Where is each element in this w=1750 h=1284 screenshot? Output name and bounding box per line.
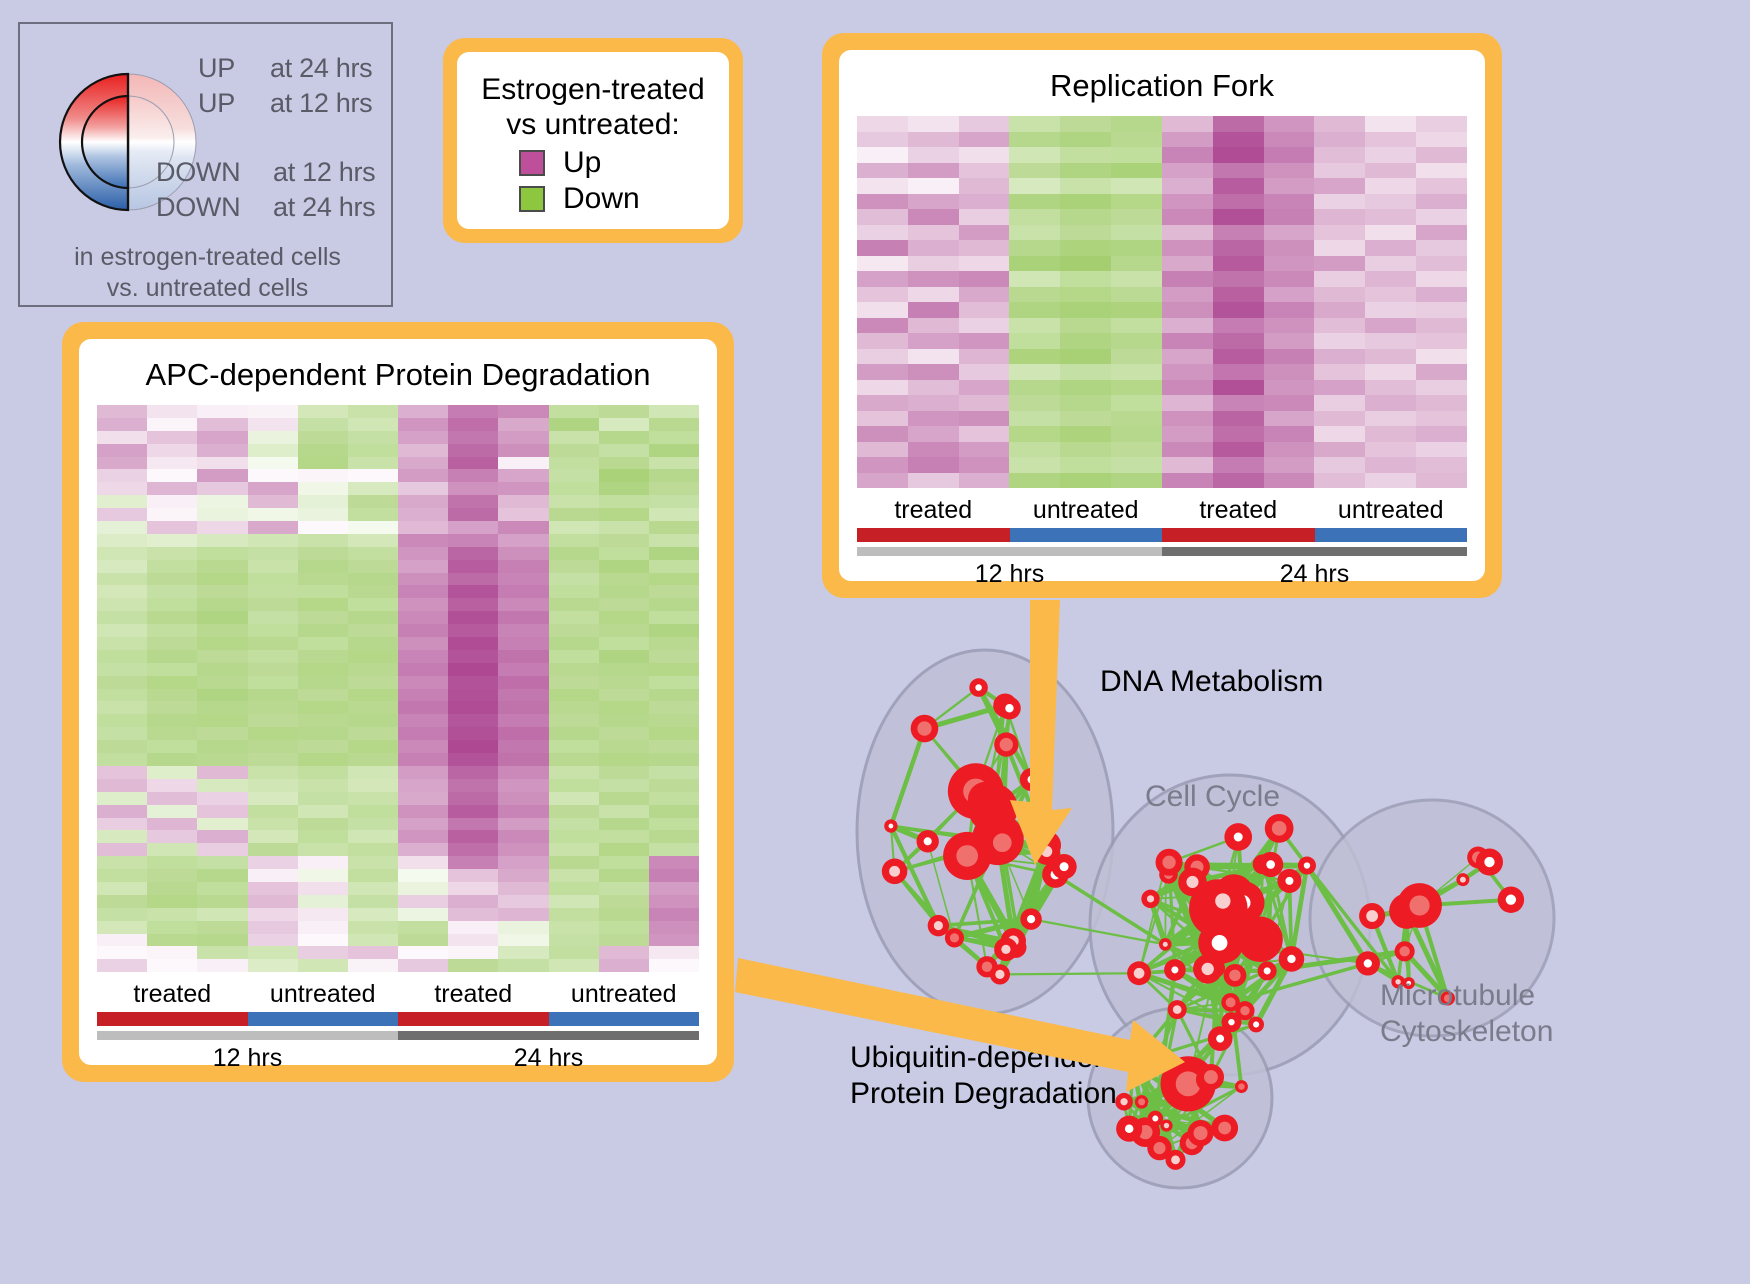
heatmap-cell <box>1365 318 1416 334</box>
heatmap-cell <box>1314 457 1365 473</box>
heatmap-cell <box>1060 302 1111 318</box>
heatmap-cell <box>857 473 908 489</box>
heatmap-cell <box>1213 209 1264 225</box>
heatmap-cell <box>1314 256 1365 272</box>
heatmap-cell <box>857 442 908 458</box>
heatmap-cell <box>147 805 197 818</box>
heatmap-cell <box>248 689 298 702</box>
heatmap-cell <box>147 946 197 959</box>
heatmap-cell <box>1264 302 1315 318</box>
apc-degradation-panel: APC-dependent Protein Degradation treate… <box>62 322 734 1082</box>
heatmap-cell <box>448 843 498 856</box>
heatmap-cell <box>908 426 959 442</box>
network-node[interactable] <box>1116 1116 1142 1142</box>
heatmap-cell <box>549 482 599 495</box>
heatmap-cell <box>448 946 498 959</box>
heatmap-cell <box>298 469 348 482</box>
heatmap-cell <box>1009 302 1060 318</box>
heatmap-cell <box>908 240 959 256</box>
heatmap-cell <box>348 611 398 624</box>
heatmap-cell <box>97 869 147 882</box>
heatmap-cell <box>1009 163 1060 179</box>
group-label: treated <box>1162 496 1315 525</box>
heatmap-cell <box>549 560 599 573</box>
network-node[interactable] <box>884 819 897 832</box>
heatmap-cell <box>398 495 448 508</box>
heatmap-cell <box>448 856 498 869</box>
heatmap-cell <box>298 650 348 663</box>
network-node[interactable] <box>1359 903 1385 929</box>
heatmap-cell <box>1162 302 1213 318</box>
heatmap-cell <box>248 714 298 727</box>
heatmap-cell <box>498 818 548 831</box>
heatmap-cell <box>1162 426 1213 442</box>
heatmap-cell <box>248 457 298 470</box>
heatmap-cell <box>398 444 448 457</box>
heatmap-cell <box>248 830 298 843</box>
heatmap-cell <box>348 521 398 534</box>
heatmap-cell <box>498 598 548 611</box>
network-node[interactable] <box>1124 1054 1141 1071</box>
heatmap-cell <box>649 843 699 856</box>
heatmap-cell <box>97 624 147 637</box>
heatmap-cell <box>498 508 548 521</box>
heatmap-cell <box>649 792 699 805</box>
group-color-bar-segment <box>398 1012 549 1026</box>
network-node[interactable] <box>1187 1120 1213 1146</box>
heatmap-cell <box>599 753 649 766</box>
heatmap-cell <box>448 418 498 431</box>
network-node[interactable] <box>969 678 988 697</box>
heatmap-cell <box>908 194 959 210</box>
network-node[interactable] <box>990 964 1010 984</box>
heatmap-cell <box>248 818 298 831</box>
heatmap-cell <box>1162 442 1213 458</box>
network-node[interactable] <box>916 830 938 852</box>
network-node[interactable] <box>1298 857 1316 875</box>
heatmap-cell <box>1416 163 1467 179</box>
heatmap-cell <box>1365 380 1416 396</box>
heatmap-cell <box>549 830 599 843</box>
network-node[interactable] <box>1224 823 1252 851</box>
network-node[interactable] <box>1248 1017 1264 1033</box>
heatmap-cell <box>1365 209 1416 225</box>
heatmap-cell <box>1162 380 1213 396</box>
heatmap-cell <box>1060 380 1111 396</box>
heatmap-cell <box>197 805 247 818</box>
heatmap-cell <box>649 753 699 766</box>
heatmap-cell <box>1162 395 1213 411</box>
heatmap-cell <box>857 178 908 194</box>
heatmap-cell <box>498 573 548 586</box>
network-node[interactable] <box>1198 1064 1224 1090</box>
heatmap-cell <box>197 521 247 534</box>
heatmap-cell <box>298 727 348 740</box>
heatmap-cell <box>448 830 498 843</box>
heatmap-cell <box>1009 256 1060 272</box>
heatmap-cell <box>298 573 348 586</box>
heatmap-cell <box>1314 349 1365 365</box>
network-node[interactable] <box>1224 964 1247 987</box>
heatmap-cell <box>1416 395 1467 411</box>
heatmap-cell <box>448 701 498 714</box>
heatmap-cell <box>448 534 498 547</box>
heatmap-cell <box>1213 426 1264 442</box>
heatmap-cell <box>248 482 298 495</box>
heatmap-cell <box>147 689 197 702</box>
heatmap-cell <box>599 573 649 586</box>
heatmap-cell <box>398 934 448 947</box>
network-node[interactable] <box>943 832 991 880</box>
heatmap-cell <box>248 469 298 482</box>
heatmap-cell <box>599 431 649 444</box>
heatmap-cell <box>448 560 498 573</box>
heatmap-cell <box>97 637 147 650</box>
network-node[interactable] <box>1135 1095 1149 1109</box>
heatmap-cell <box>97 908 147 921</box>
network-node[interactable] <box>1498 887 1524 913</box>
apc-group-labels: treateduntreatedtreateduntreated <box>97 980 699 1009</box>
heatmap-cell <box>448 521 498 534</box>
network-node[interactable] <box>1279 946 1305 972</box>
network-node[interactable] <box>994 938 1018 962</box>
heatmap-cell <box>1213 457 1264 473</box>
heatmap-cell <box>1111 318 1162 334</box>
heatmap-cell <box>498 805 548 818</box>
heatmap-cell <box>908 225 959 241</box>
heatmap-cell <box>1060 240 1111 256</box>
network-node[interactable] <box>1020 768 1043 791</box>
heatmap-cell <box>498 714 548 727</box>
heatmap-cell <box>1162 240 1213 256</box>
heatmap-cell <box>147 959 197 972</box>
heatmap-cell <box>599 921 649 934</box>
time-color-bar-segment <box>97 1031 398 1040</box>
heatmap-cell <box>959 116 1010 132</box>
heatmap-cell <box>959 256 1010 272</box>
heatmap-cell <box>298 740 348 753</box>
heatmap-cell <box>549 495 599 508</box>
heatmap-cell <box>1314 132 1365 148</box>
heatmap-cell <box>857 349 908 365</box>
heatmap-cell <box>549 508 599 521</box>
network-node[interactable] <box>1141 890 1159 908</box>
network-node[interactable] <box>945 928 964 947</box>
wheel-ring-label-up-12: UP <box>198 88 235 119</box>
heatmap-cell <box>1060 287 1111 303</box>
heatmap-cell <box>97 792 147 805</box>
heatmap-cell <box>1365 364 1416 380</box>
network-node[interactable] <box>1051 854 1076 879</box>
heatmap-cell <box>549 405 599 418</box>
network-node[interactable] <box>928 915 949 936</box>
heatmap-cell <box>298 560 348 573</box>
network-node[interactable] <box>994 732 1018 756</box>
heatmap-cell <box>1416 132 1467 148</box>
heatmap-cell <box>549 624 599 637</box>
heatmap-cell <box>248 598 298 611</box>
heatmap-cell <box>1416 473 1467 489</box>
heatmap-cell <box>197 650 247 663</box>
heatmap-cell <box>248 727 298 740</box>
network-node[interactable] <box>1127 961 1151 985</box>
heatmap-cell <box>908 163 959 179</box>
heatmap-cell <box>549 573 599 586</box>
heatmap-cell <box>1416 302 1467 318</box>
heatmap-cell <box>248 843 298 856</box>
heatmap-cell <box>1111 147 1162 163</box>
network-node[interactable] <box>1456 873 1469 886</box>
heatmap-cell <box>649 895 699 908</box>
heatmap-cell <box>1264 442 1315 458</box>
network-node[interactable] <box>1178 868 1207 897</box>
heatmap-cell <box>248 573 298 586</box>
heatmap-cell <box>1162 132 1213 148</box>
heatmap-cell <box>298 534 348 547</box>
heatmap-cell <box>248 418 298 431</box>
heatmap-cell <box>1009 132 1060 148</box>
heatmap-cell <box>197 663 247 676</box>
heatmap-cell <box>197 637 247 650</box>
network-node[interactable] <box>1277 869 1301 893</box>
heatmap-cell <box>1213 132 1264 148</box>
heatmap-cell <box>1416 380 1467 396</box>
heatmap-cell <box>1009 209 1060 225</box>
heatmap-cell <box>97 469 147 482</box>
heatmap-cell <box>1060 147 1111 163</box>
heatmap-cell <box>448 766 498 779</box>
heatmap-cell <box>549 753 599 766</box>
heatmap-cell <box>1365 395 1416 411</box>
heatmap-cell <box>1365 256 1416 272</box>
heatmap-cell <box>959 287 1010 303</box>
heatmap-cell <box>1365 194 1416 210</box>
heatmap-cell <box>599 895 649 908</box>
heatmap-cell <box>1162 256 1213 272</box>
heatmap-cell <box>549 959 599 972</box>
heatmap-cell <box>147 714 197 727</box>
heatmap-cell <box>498 482 548 495</box>
heatmap-cell <box>197 779 247 792</box>
heatmap-cell <box>857 225 908 241</box>
group-label: treated <box>398 980 549 1009</box>
heatmap-cell <box>857 256 908 272</box>
heatmap-cell <box>857 271 908 287</box>
heatmap-cell <box>1213 380 1264 396</box>
network-node[interactable] <box>1020 908 1041 929</box>
heatmap-cell <box>448 547 498 560</box>
heatmap-cell <box>959 364 1010 380</box>
heatmap-cell <box>649 637 699 650</box>
heatmap-cell <box>857 333 908 349</box>
heatmap-cell <box>1213 116 1264 132</box>
heatmap-cell <box>1060 426 1111 442</box>
network-node[interactable] <box>1147 1136 1171 1160</box>
heatmap-cell <box>1111 271 1162 287</box>
wheel-ring-time-down-12: at 12 hrs <box>273 157 375 188</box>
heatmap-cell <box>298 444 348 457</box>
heatmap-cell <box>197 689 247 702</box>
heatmap-cell <box>1213 271 1264 287</box>
heatmap-cell <box>959 132 1010 148</box>
heatmap-cell <box>348 637 398 650</box>
heatmap-cell <box>348 843 398 856</box>
network-node[interactable] <box>882 859 908 885</box>
heatmap-cell <box>599 882 649 895</box>
heatmap-cell <box>498 663 548 676</box>
network-node[interactable] <box>968 783 1018 833</box>
heatmap-cell <box>549 689 599 702</box>
heatmap-cell <box>398 701 448 714</box>
heatmap-cell <box>908 287 959 303</box>
heatmap-cell <box>348 573 398 586</box>
heatmap-cell <box>97 650 147 663</box>
heatmap-cell <box>398 843 448 856</box>
heatmap-cell <box>197 547 247 560</box>
heatmap-cell <box>1009 194 1060 210</box>
wheel-ring-time-up-24: at 24 hrs <box>270 53 372 84</box>
network-node[interactable] <box>911 715 939 743</box>
network-node[interactable] <box>1205 883 1241 919</box>
heatmap-cell <box>857 426 908 442</box>
heatmap-cell <box>1009 380 1060 396</box>
heatmap-cell <box>298 779 348 792</box>
network-node[interactable] <box>1235 1080 1248 1093</box>
heatmap-cell <box>248 856 298 869</box>
heatmap-cell <box>97 766 147 779</box>
heatmap-cell <box>97 701 147 714</box>
heatmap-cell <box>1264 163 1315 179</box>
heatmap-cell <box>1365 457 1416 473</box>
heatmap-cell <box>398 405 448 418</box>
network-node[interactable] <box>1156 849 1183 876</box>
heatmap-cell <box>398 547 448 560</box>
ubiquitin-label-line1: Ubiquitin-dependent <box>850 1040 1119 1076</box>
heatmap-cell <box>1060 395 1111 411</box>
apc-degradation-heatmap <box>97 405 699 972</box>
network-node[interactable] <box>1237 917 1282 962</box>
up-legend-label: Up <box>563 148 601 178</box>
heatmap-cell <box>1416 349 1467 365</box>
heatmap-cell <box>599 856 649 869</box>
network-node[interactable] <box>1193 954 1222 983</box>
heatmap-cell <box>908 116 959 132</box>
heatmap-cell <box>1213 395 1264 411</box>
group-color-bar-segment <box>1162 528 1315 542</box>
heatmap-cell <box>97 959 147 972</box>
heatmap-cell <box>1009 147 1060 163</box>
heatmap-cell <box>599 792 649 805</box>
heatmap-cell <box>599 521 649 534</box>
heatmap-cell <box>1213 302 1264 318</box>
heatmap-cell <box>959 302 1010 318</box>
heatmap-cell <box>599 946 649 959</box>
heatmap-cell <box>248 779 298 792</box>
network-node[interactable] <box>1258 852 1283 877</box>
network-node[interactable] <box>1159 938 1172 951</box>
heatmap-cell <box>298 921 348 934</box>
heatmap-cell <box>599 818 649 831</box>
network-node[interactable] <box>985 826 1019 860</box>
heatmap-cell <box>1060 318 1111 334</box>
heatmap-cell <box>599 560 649 573</box>
heatmap-cell <box>599 637 649 650</box>
network-node[interactable] <box>1164 959 1186 981</box>
network-node[interactable] <box>1168 1000 1187 1019</box>
legend-entry-down: Down <box>519 184 719 214</box>
network-node[interactable] <box>1356 951 1380 975</box>
heatmap-cell <box>599 611 649 624</box>
heatmap-cell <box>549 611 599 624</box>
heatmap-cell <box>398 560 448 573</box>
network-node[interactable] <box>1395 941 1415 961</box>
heatmap-cell <box>599 959 649 972</box>
heatmap-cell <box>97 753 147 766</box>
heatmap-cell <box>97 431 147 444</box>
heatmap-cell <box>908 473 959 489</box>
heatmap-cell <box>298 585 348 598</box>
heatmap-cell <box>298 611 348 624</box>
heatmap-cell <box>549 946 599 959</box>
heatmap-cell <box>1111 364 1162 380</box>
heatmap-cell <box>498 611 548 624</box>
heatmap-cell <box>908 380 959 396</box>
heatmap-cell <box>348 805 398 818</box>
heatmap-cell <box>448 457 498 470</box>
heatmap-cell <box>1213 473 1264 489</box>
heatmap-cell <box>959 318 1010 334</box>
network-node[interactable] <box>1397 883 1442 928</box>
heatmap-cell <box>649 495 699 508</box>
network-node[interactable] <box>1211 1115 1238 1142</box>
heatmap-cell <box>1060 256 1111 272</box>
heatmap-cell <box>97 934 147 947</box>
heatmap-cell <box>1009 287 1060 303</box>
heatmap-cell <box>398 779 448 792</box>
heatmap-cell <box>97 946 147 959</box>
heatmap-cell <box>298 766 348 779</box>
heatmap-cell <box>908 318 959 334</box>
heatmap-cell <box>1264 132 1315 148</box>
heatmap-cell <box>1060 132 1111 148</box>
network-node[interactable] <box>1221 1012 1241 1032</box>
network-node[interactable] <box>1265 814 1294 843</box>
heatmap-cell <box>1416 287 1467 303</box>
network-node[interactable] <box>1258 961 1277 980</box>
heatmap-cell <box>298 637 348 650</box>
heatmap-cell <box>908 271 959 287</box>
heatmap-cell <box>147 637 197 650</box>
heatmap-cell <box>248 792 298 805</box>
heatmap-cell <box>448 676 498 689</box>
network-svg <box>760 600 1750 1279</box>
network-node[interactable] <box>1160 1119 1172 1131</box>
apc-time-bar <box>97 1031 699 1040</box>
time-label: 24 hrs <box>1162 560 1467 589</box>
heatmap-cell <box>97 856 147 869</box>
group-label: treated <box>857 496 1010 525</box>
heatmap-cell <box>649 714 699 727</box>
heatmap-cell <box>248 663 298 676</box>
heatmap-cell <box>908 457 959 473</box>
heatmap-cell <box>959 271 1010 287</box>
heatmap-cell <box>498 650 548 663</box>
heatmap-cell <box>348 908 398 921</box>
network-node[interactable] <box>998 697 1021 720</box>
heatmap-cell <box>498 934 548 947</box>
heatmap-cell <box>498 444 548 457</box>
network-node[interactable] <box>1476 849 1503 876</box>
